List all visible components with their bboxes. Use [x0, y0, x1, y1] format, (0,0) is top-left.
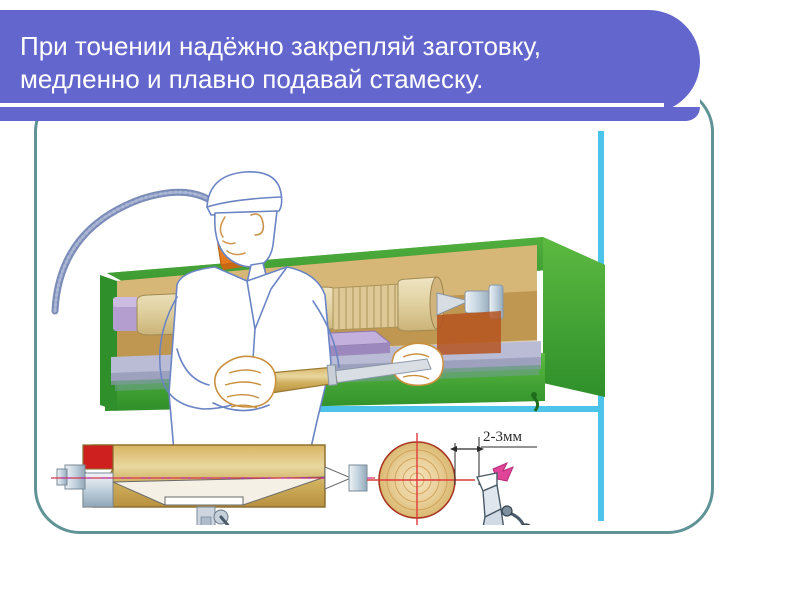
illustration-artwork: 2-3мм	[45, 125, 610, 525]
clearance-label: 2-3мм	[483, 429, 522, 445]
title-banner: При точении надёжно закрепляй заготовку,…	[0, 10, 700, 113]
clearance-end-view: 2-3мм	[367, 429, 537, 525]
page-title: При точении надёжно закрепляй заготовку,…	[20, 30, 670, 96]
illustration-plate: 2-3мм	[45, 125, 610, 525]
title-banner-rule	[0, 103, 664, 107]
workpiece-side-view	[51, 445, 375, 525]
slide-canvas: При точении надёжно закрепляй заготовку,…	[0, 0, 800, 600]
title-banner-foot	[0, 107, 700, 121]
worker-figure	[160, 172, 339, 487]
